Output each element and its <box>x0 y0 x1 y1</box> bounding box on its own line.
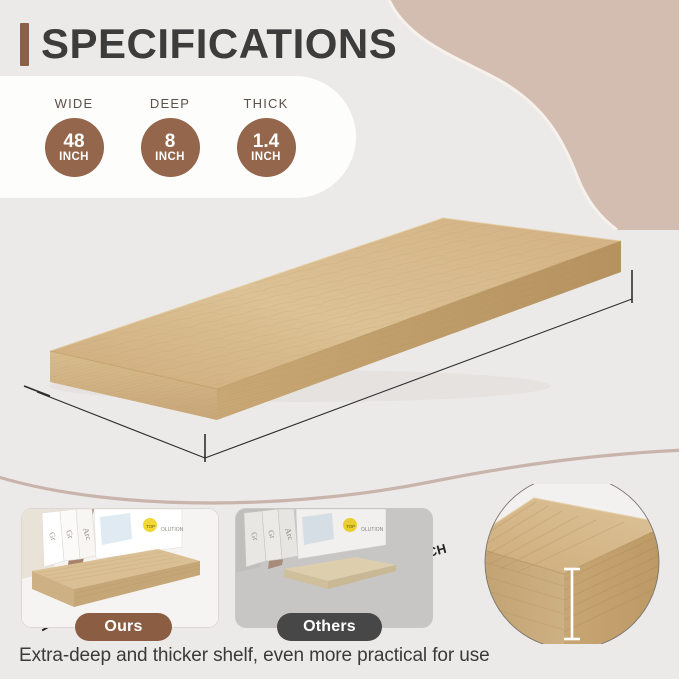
spec-value-thick: 1.4 <box>253 132 279 151</box>
spec-item-thick: THICK 1.4 INCH <box>228 76 304 198</box>
specifications-card: WIDE 48 INCH DEEP 8 INCH THICK 1.4 INCH <box>0 76 356 198</box>
spec-label-thick: THICK <box>244 96 289 111</box>
spec-value-wide: 48 <box>63 132 84 151</box>
shelf-3d-drawing <box>0 196 679 464</box>
spec-list: WIDE 48 INCH DEEP 8 INCH THICK 1.4 INCH <box>0 76 356 198</box>
spec-item-wide: WIDE 48 INCH <box>36 76 112 198</box>
spec-unit-wide: INCH <box>59 151 89 164</box>
thickness-detail-circle: 1.4INCH <box>484 484 664 644</box>
spec-label-wide: WIDE <box>55 96 94 111</box>
infographic-page: SPECIFICATIONS WIDE 48 INCH DEEP 8 INCH … <box>0 0 679 679</box>
svg-text:TOP: TOP <box>146 524 155 529</box>
badge-ours: Ours <box>75 613 172 641</box>
header: SPECIFICATIONS <box>0 0 679 78</box>
title-accent-bar <box>20 23 29 66</box>
svg-text:OLUTION: OLUTION <box>161 527 184 533</box>
caption-text: Extra-deep and thicker shelf, even more … <box>19 645 659 667</box>
spec-badge-deep: 8 INCH <box>141 118 200 177</box>
comparison-panel-ours: Gr Gr Arc TOP OLUTION <box>21 508 219 628</box>
comparison-panel-others: Gr Gr Arc TOP OLUTION <box>235 508 433 628</box>
spec-label-deep: DEEP <box>150 96 190 111</box>
hero-shelf-illustration: 48INCH 8INCH <box>0 196 679 464</box>
spec-item-deep: DEEP 8 INCH <box>132 76 208 198</box>
thickness-detail-drawing <box>484 484 664 644</box>
others-shelf-photo: Gr Gr Arc TOP OLUTION <box>236 509 432 627</box>
ours-shelf-photo: Gr Gr Arc TOP OLUTION <box>22 509 218 627</box>
spec-badge-wide: 48 INCH <box>45 118 104 177</box>
spec-unit-deep: INCH <box>155 151 185 164</box>
spec-value-deep: 8 <box>165 132 176 151</box>
svg-text:OLUTION: OLUTION <box>361 527 384 533</box>
spec-badge-thick: 1.4 INCH <box>237 118 296 177</box>
svg-text:TOP: TOP <box>346 524 355 529</box>
badge-others: Others <box>277 613 382 641</box>
page-title: SPECIFICATIONS <box>41 18 397 70</box>
spec-unit-thick: INCH <box>251 151 281 164</box>
